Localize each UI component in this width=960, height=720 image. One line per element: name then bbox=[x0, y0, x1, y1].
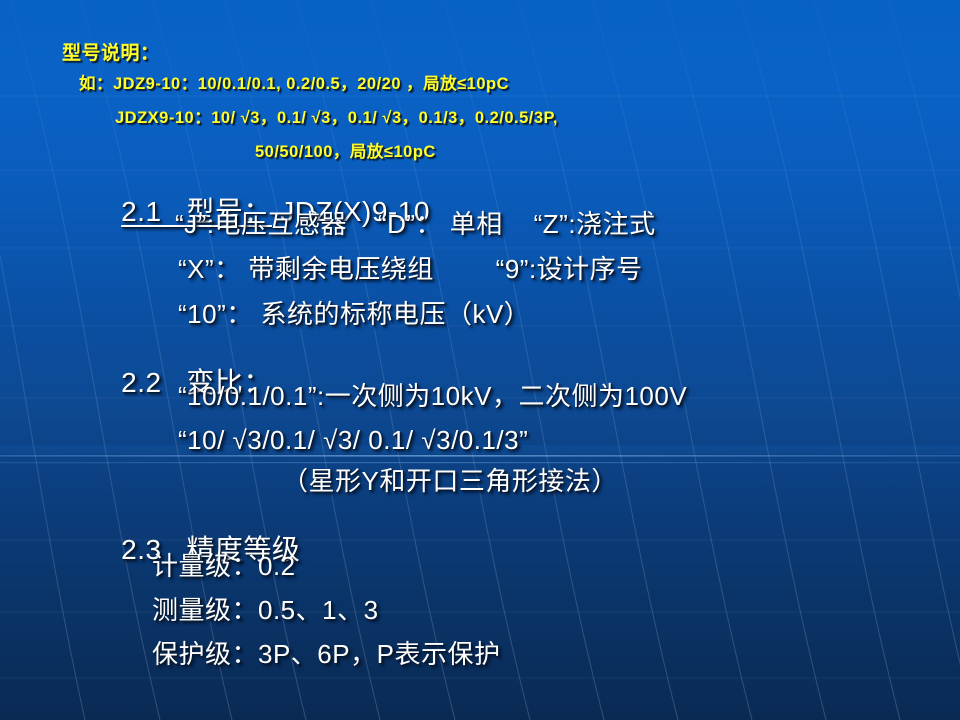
model-explanation-heading: 型号说明： bbox=[62, 44, 160, 63]
section-2-1-detail-3: “10”： 系统的标称电压（kV） bbox=[178, 301, 530, 327]
section-2-2-detail-1: “10/0.1/0.1”:一次侧为10kV，二次侧为100V bbox=[178, 383, 687, 409]
slide-canvas: 型号说明： 如：JDZ9-10：10/0.1/0.1, 0.2/0.5，20/2… bbox=[0, 0, 960, 720]
section-2-2-detail-2: “10/ √3/0.1/ √3/ 0.1/ √3/0.1/3” bbox=[178, 427, 528, 453]
section-2-2-number: 2.2 bbox=[121, 367, 161, 398]
model-example-line-1: 如：JDZ9-10：10/0.1/0.1, 0.2/0.5，20/20 ，局放≤… bbox=[79, 76, 509, 93]
section-2-1-detail-2: “X”： 带剩余电压绕组 “9”:设计序号 bbox=[178, 256, 643, 282]
model-example-line-3: 50/50/100，局放≤10pC bbox=[255, 144, 436, 161]
section-2-3-detail-2: 测量级：0.5、1、3 bbox=[152, 597, 379, 623]
model-example-line-2: JDZX9-10：10/ √3，0.1/ √3，0.1/ √3，0.1/3，0.… bbox=[115, 110, 558, 127]
section-2-3-detail-3: 保护级：3P、6P，P表示保护 bbox=[152, 641, 500, 667]
section-2-1-detail-1: “J”:电压互感器 “D”： 单相 “Z”:浇注式 bbox=[175, 211, 656, 237]
section-2-1-number: 2.1 bbox=[121, 196, 161, 227]
section-2-2-detail-3: （星形Y和开口三角形接法） bbox=[282, 468, 618, 494]
section-2-3-detail-1: 计量级：0.2 bbox=[152, 553, 296, 579]
